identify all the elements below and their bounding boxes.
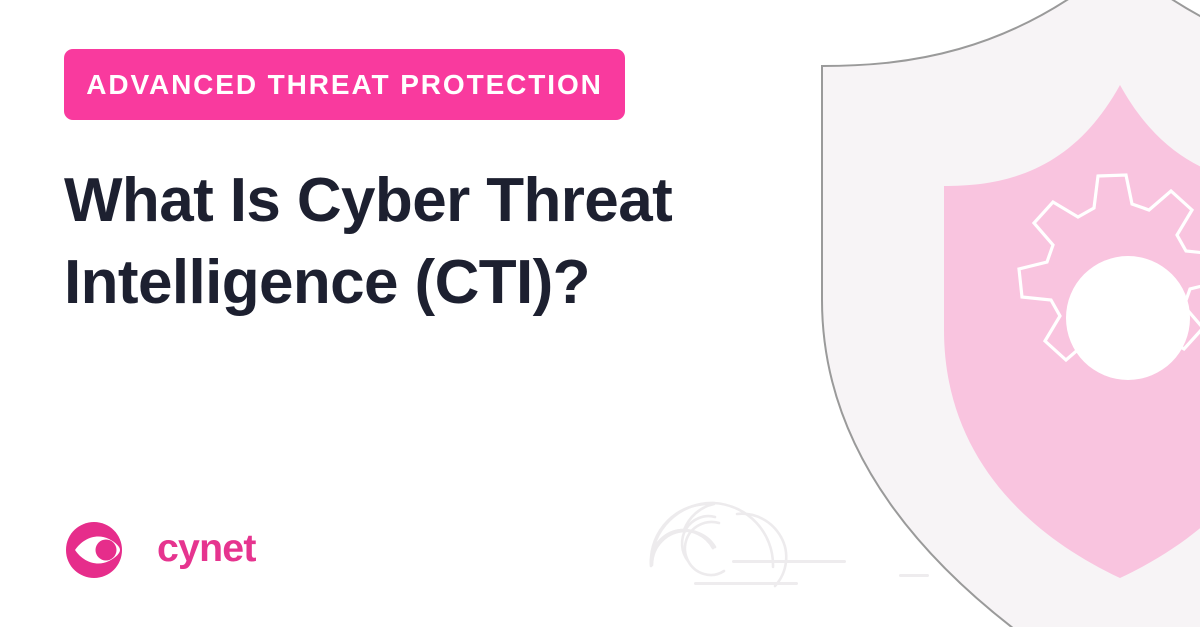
shield-outline bbox=[822, 0, 1200, 627]
hero-banner: ADVANCED THREAT PROTECTION What Is Cyber… bbox=[0, 0, 1200, 627]
cynet-logo[interactable]: cynet bbox=[64, 518, 332, 582]
category-badge: ADVANCED THREAT PROTECTION bbox=[64, 49, 625, 120]
page-title-line-1: What Is Cyber Threat bbox=[64, 160, 764, 242]
cloud-line-2 bbox=[694, 582, 798, 585]
svg-text:cynet: cynet bbox=[157, 528, 256, 570]
shield-band bbox=[822, 0, 1200, 627]
cloud-line-1 bbox=[732, 560, 846, 563]
gear-hub bbox=[1066, 256, 1190, 380]
category-badge-label: ADVANCED THREAT PROTECTION bbox=[86, 71, 603, 99]
cynet-wordmark: cynet bbox=[136, 528, 332, 572]
shield-inner bbox=[944, 85, 1200, 578]
cloud-icon bbox=[651, 503, 786, 586]
page-title: What Is Cyber Threat Intelligence (CTI)? bbox=[64, 160, 764, 324]
cloud-line-3 bbox=[899, 574, 929, 577]
cynet-eye-icon bbox=[64, 521, 126, 579]
gear-icon bbox=[1019, 175, 1200, 375]
page-title-line-2: Intelligence (CTI)? bbox=[64, 242, 764, 324]
